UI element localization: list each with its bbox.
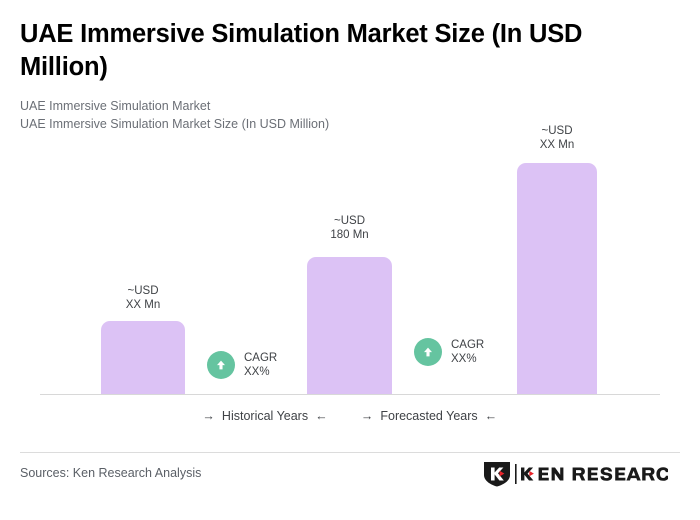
period-label-forecasted: → Forecasted Years ←: [361, 409, 497, 423]
bar-label-historical: ~USD XX Mn: [101, 284, 185, 313]
bar-forecast[interactable]: [517, 163, 597, 394]
bar-label-line2: XX Mn: [101, 298, 185, 312]
arrow-right-icon: →: [202, 410, 215, 423]
bar-label-line2: 180 Mn: [307, 228, 392, 242]
period-label-text: Forecasted Years: [380, 409, 477, 423]
bar-label-line1: ~USD: [101, 284, 185, 298]
cagr-label: CAGR: [451, 338, 484, 352]
cagr-value: XX%: [451, 352, 484, 366]
sources-text: Sources: Ken Research Analysis: [20, 466, 201, 480]
ken-research-logo: [482, 461, 668, 487]
period-label-historical: → Historical Years ←: [202, 409, 327, 423]
footer-divider: [20, 452, 680, 453]
period-legend-row: → Historical Years ← → Forecasted Years …: [40, 409, 660, 429]
arrow-up-icon: [207, 351, 235, 379]
bar-label-forecast: ~USD XX Mn: [517, 124, 597, 153]
arrow-right-icon: →: [361, 410, 374, 423]
cagr-badge-forecast[interactable]: CAGR XX%: [414, 338, 484, 367]
bar-historical[interactable]: [101, 321, 185, 394]
arrow-left-icon: ←: [485, 410, 498, 423]
axis-baseline: [40, 394, 660, 395]
cagr-value: XX%: [244, 365, 277, 379]
bar-label-current: ~USD 180 Mn: [307, 214, 392, 243]
cagr-text-historical: CAGR XX%: [244, 351, 277, 380]
bar-label-line2: XX Mn: [517, 138, 597, 152]
bar-current[interactable]: [307, 257, 392, 394]
cagr-badge-historical[interactable]: CAGR XX%: [207, 351, 277, 380]
cagr-text-forecast: CAGR XX%: [451, 338, 484, 367]
bar-label-line1: ~USD: [517, 124, 597, 138]
bar-label-line1: ~USD: [307, 214, 392, 228]
bar-chart-plot: ~USD XX Mn ~USD 180 Mn ~USD XX Mn CAGR X…: [0, 0, 700, 520]
cagr-label: CAGR: [244, 351, 277, 365]
period-label-text: Historical Years: [222, 409, 308, 423]
arrow-up-icon: [414, 338, 442, 366]
arrow-left-icon: ←: [315, 410, 328, 423]
